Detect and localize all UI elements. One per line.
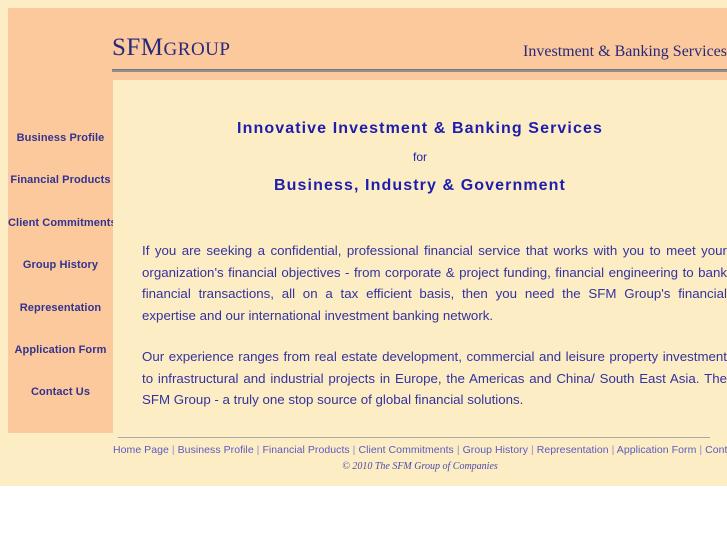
sidebar-item-business-profile[interactable]: Business Profile bbox=[8, 132, 113, 144]
footer-separator: | bbox=[609, 444, 617, 456]
sidebar-item-representation[interactable]: Representation bbox=[8, 302, 113, 314]
page-heading-block: Innovative Investment & Banking Services… bbox=[113, 120, 727, 195]
header-tagline: Investment & Banking Services bbox=[523, 43, 727, 61]
site-logo[interactable]: SFMGROUP bbox=[112, 34, 230, 62]
page-root: SFMGROUP Investment & Banking Services B… bbox=[0, 0, 727, 545]
footer-separator: | bbox=[169, 444, 178, 456]
footer-separator: | bbox=[528, 444, 537, 456]
sidebar-item-contact-us[interactable]: Contact Us bbox=[8, 386, 113, 398]
footer-link-client-commitments[interactable]: Client Commitments bbox=[358, 444, 453, 456]
logo-sub-text: GROUP bbox=[164, 39, 231, 60]
sidebar-item-application-form[interactable]: Application Form bbox=[8, 344, 113, 356]
footer-link-business-profile[interactable]: Business Profile bbox=[178, 444, 254, 456]
header-divider-rule bbox=[112, 69, 727, 72]
footer-link-representation[interactable]: Representation bbox=[537, 444, 609, 456]
footer-nav: Home Page | Business Profile | Financial… bbox=[113, 444, 727, 456]
paragraph-1: If you are seeking a confidential, profe… bbox=[142, 240, 727, 326]
sidebar-item-group-history[interactable]: Group History bbox=[8, 259, 113, 271]
footer-link-contact-us[interactable]: Contact Us bbox=[705, 444, 727, 456]
footer-link-financial-products[interactable]: Financial Products bbox=[262, 444, 349, 456]
body-copy: If you are seeking a confidential, profe… bbox=[142, 240, 727, 411]
footer-separator: | bbox=[454, 444, 463, 456]
footer-separator: | bbox=[696, 444, 705, 456]
footer-divider-rule bbox=[118, 437, 710, 438]
sidebar-nav: Business ProfileFinancial ProductsClient… bbox=[8, 80, 113, 433]
copyright-text: © 2010 The SFM Group of Companies bbox=[113, 461, 727, 472]
sidebar-item-financial-products[interactable]: Financial Products bbox=[8, 174, 113, 186]
site-footer: Home Page | Business Profile | Financial… bbox=[113, 444, 727, 472]
paragraph-2: Our experience ranges from real estate d… bbox=[142, 346, 727, 411]
footer-link-group-history[interactable]: Group History bbox=[463, 444, 528, 456]
site-header: SFMGROUP Investment & Banking Services bbox=[8, 8, 727, 80]
footer-link-home-page[interactable]: Home Page bbox=[113, 444, 169, 456]
page-title-connector: for bbox=[113, 150, 727, 164]
page-subtitle: Business, Industry & Government bbox=[113, 177, 727, 195]
main-content: Innovative Investment & Banking Services… bbox=[113, 80, 727, 486]
sidebar-item-client-commitments[interactable]: Client Commitments bbox=[8, 217, 113, 229]
footer-link-application-form[interactable]: Application Form bbox=[617, 444, 697, 456]
page-title: Innovative Investment & Banking Services bbox=[113, 120, 727, 138]
logo-main-text: SFM bbox=[112, 34, 164, 61]
